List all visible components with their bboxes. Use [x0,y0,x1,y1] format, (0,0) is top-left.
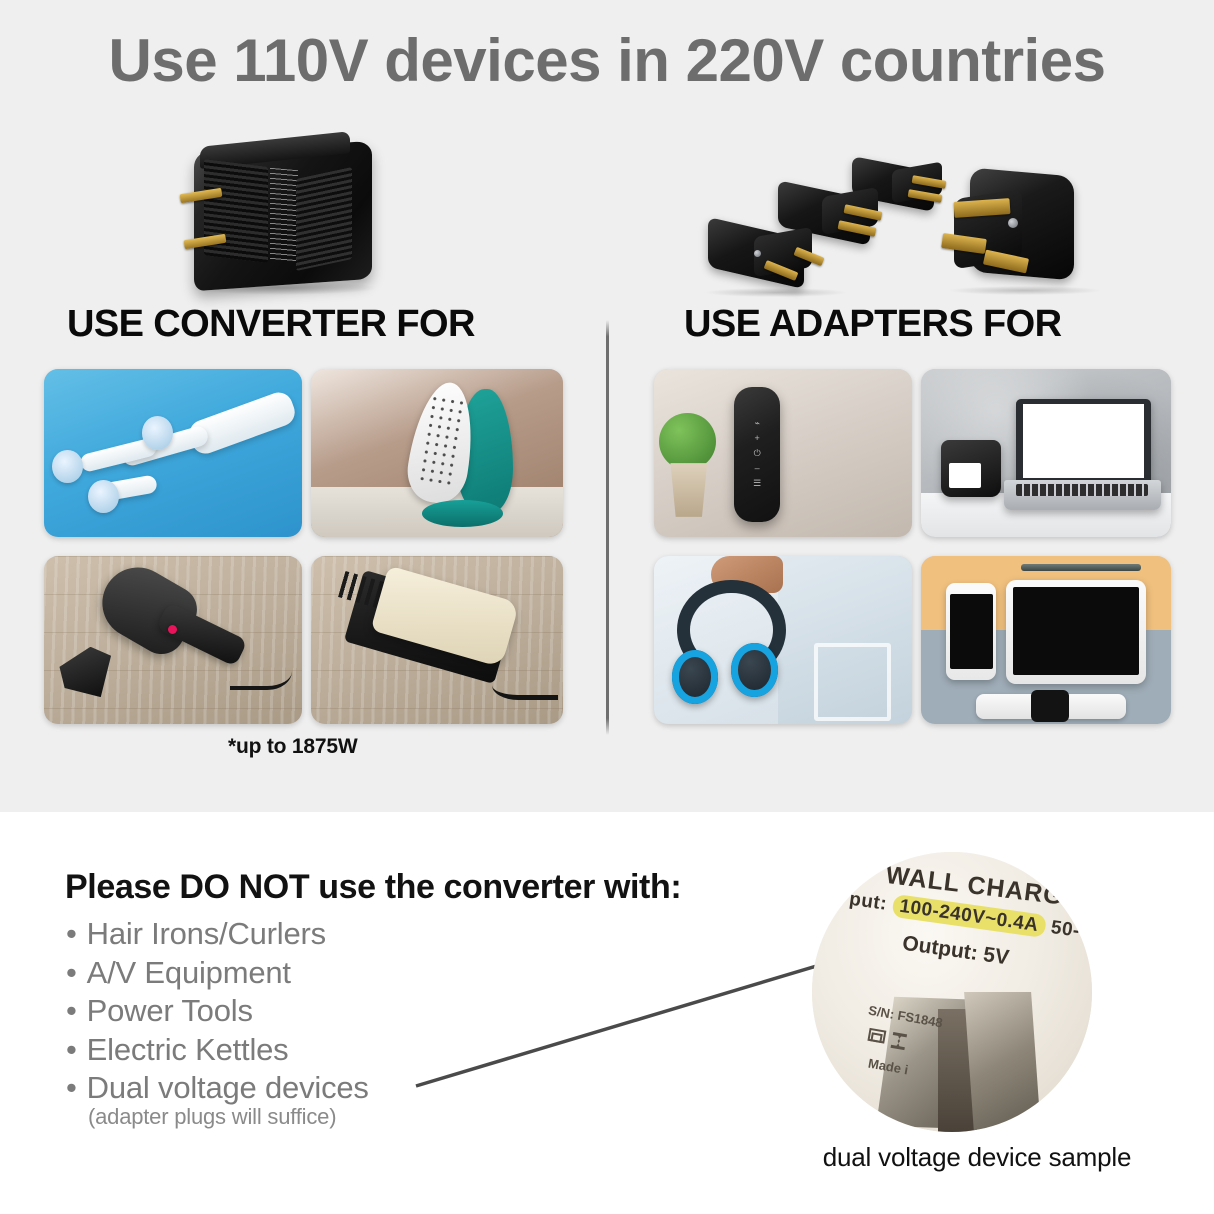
door-panel [814,643,891,720]
converter-wattage-note: *up to 1875W [228,735,357,759]
list-item: •Hair Irons/Curlers [66,915,369,954]
headphones-photo [654,556,912,724]
dryer-button [168,625,177,634]
list-item-label: A/V Equipment [87,955,291,990]
plant-foliage [659,413,716,470]
bullet-icon: • [66,916,77,951]
tile-hair-dryer [44,556,302,724]
tile-steam-iron [311,369,563,537]
laptop-photo [921,369,1171,537]
converter-label-text [270,168,298,262]
tile-electric-toothbrush [44,369,302,537]
toothbrush-head [142,416,173,450]
tile-hair-clippers [311,556,563,724]
adapter-plugs-hero-image [700,160,1095,300]
adapter-section-header: USE ADAPTERS FOR [684,303,1061,346]
laptop-keyboard [1016,484,1148,496]
infographic-page: Use 110V devices in 220V countries [0,0,1214,1214]
converter-section-header: USE CONVERTER FOR [67,303,475,346]
toothbrush-handle [186,388,299,457]
converter-vent-left [204,159,268,263]
devices-flatlay-photo [921,556,1171,724]
toothbrush-head [52,450,83,484]
headphone-accent-ring [672,650,718,704]
laptop-base [1004,480,1162,510]
dual-voltage-sample-photo: WALL CHARGER put: 100-240V~0.4A 50-60Hz … [812,852,1092,1132]
list-item-label: Power Tools [87,993,253,1028]
iron-base-stand [422,500,503,527]
tile-headphones [654,556,912,724]
warning-title: Please DO NOT use the converter with: [65,868,681,907]
smartwatch-face [1031,690,1069,722]
sample-photo-caption: dual voltage device sample [0,1142,1214,1173]
list-item-label: Electric Kettles [87,1032,289,1067]
hair-dryer-photo [44,556,302,724]
plant-pot [667,463,711,517]
list-item: •Electric Kettles [66,1031,369,1070]
tile-phone-tablet-watch [921,556,1171,724]
list-item-label: Dual voltage devices [87,1070,369,1105]
tablet [1006,580,1146,684]
tile-camera-laptop [921,369,1171,537]
clipper-cord [492,664,558,701]
charger-prong-right [964,992,1041,1132]
speaker-photo: ⌁+⏻–☰ [654,369,912,537]
smartphone [946,583,996,680]
converter-hero-image [178,133,393,301]
converter-vent-right [296,167,352,271]
list-item: •A/V Equipment [66,954,369,993]
dryer-cord [230,643,292,690]
bullet-icon: • [66,1070,77,1105]
toothbrush-photo [44,369,302,537]
warning-sub-note: (adapter plugs will suffice) [88,1104,336,1130]
headphone-accent-ring [731,643,777,697]
bullet-icon: • [66,955,77,990]
section-divider [606,320,609,735]
stylus-pen [1021,564,1141,571]
bullet-icon: • [66,1032,77,1067]
toothbrush-head [88,480,119,514]
plug-screw [1008,218,1018,228]
hair-clipper-photo [311,556,563,724]
adapter-plug-uk [936,172,1096,296]
top-panel: Use 110V devices in 220V countries [0,0,1214,812]
speaker-buttons: ⌁+⏻–☰ [734,416,780,491]
bullet-icon: • [66,993,77,1028]
charger-input-prefix: put: [848,889,888,915]
camera-lcd [949,463,982,488]
iron-photo [311,369,563,537]
laptop-screen [1016,399,1151,483]
adapter-plug-front [708,222,830,296]
double-insulation-icon [867,1028,886,1044]
page-title: Use 110V devices in 220V countries [0,28,1214,94]
list-item: •Power Tools [66,992,369,1031]
warning-list: •Hair Irons/Curlers •A/V Equipment •Powe… [66,915,369,1108]
list-item-label: Hair Irons/Curlers [87,916,326,951]
list-item: •Dual voltage devices [66,1069,369,1108]
dryer-nozzle [59,647,111,697]
plug-screw [754,250,761,257]
tile-bluetooth-speaker: ⌁+⏻–☰ [654,369,912,537]
hourglass-icon [891,1032,908,1050]
dryer-barrel [89,556,205,662]
